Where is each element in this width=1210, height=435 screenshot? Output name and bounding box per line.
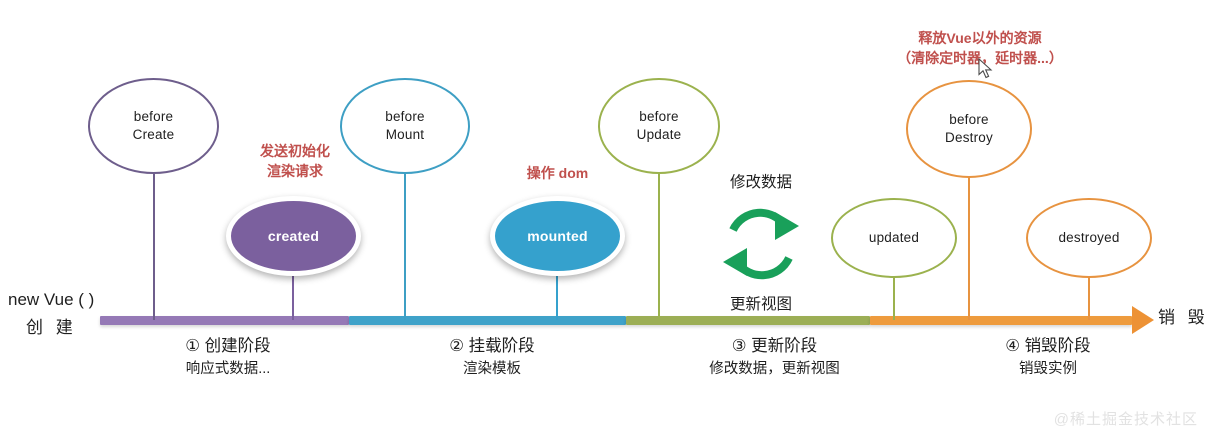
cycle-bottom-label: 更新视图 [705,292,817,314]
phase-2: ② 挂载阶段渲染模板 [412,334,572,381]
hook-label-beforeCreate: before Create [133,108,175,144]
hook-bubble-updated[interactable]: updated [831,198,957,278]
stem-beforeCreate [153,174,155,320]
stem-mounted [556,276,558,320]
hook-bubble-beforeCreate[interactable]: before Create [88,78,219,174]
segment-mount [349,316,626,325]
new-vue-line2: 创 建 [8,314,143,342]
mouse-cursor-icon [978,58,993,84]
phase-3-title: ③ 更新阶段 [682,334,867,359]
destroy-end-label: 销 毁 [1158,303,1209,328]
phase-2-title: ② 挂载阶段 [412,334,572,359]
phase-3-subtitle: 修改数据，更新视图 [682,359,867,381]
new-vue-line1: new Vue ( ) [8,286,143,314]
stem-beforeMount [404,174,406,320]
segment-update [626,316,870,325]
hook-label-mounted: mounted [527,227,588,245]
hook-bubble-beforeMount[interactable]: before Mount [340,78,470,174]
stem-updated [893,278,895,320]
phase-4-subtitle: 销毁实例 [968,359,1128,381]
hook-bubble-beforeDestroy[interactable]: before Destroy [906,80,1032,178]
phase-1-title: ① 创建阶段 [148,334,308,359]
hook-label-beforeMount: before Mount [385,108,424,144]
hook-label-beforeDestroy: before Destroy [945,111,993,147]
vue-lifecycle-diagram: before Createcreatedbefore Mountmountedb… [0,0,1210,435]
phase-4-title: ④ 销毁阶段 [968,334,1128,359]
stem-beforeDestroy [968,178,970,320]
phase-1: ① 创建阶段响应式数据... [148,334,308,381]
stem-created [292,276,294,320]
timeline-arrowhead [1132,306,1154,334]
hook-label-created: created [268,227,319,245]
hook-bubble-destroyed[interactable]: destroyed [1026,198,1152,278]
new-vue-label: new Vue ( ) 创 建 [8,286,143,342]
hook-bubble-mounted[interactable]: mounted [490,196,625,276]
cycle-top-label: 修改数据 [705,170,817,192]
mounted-note: 操作 dom [505,163,610,183]
phase-3: ③ 更新阶段修改数据，更新视图 [682,334,867,381]
stem-beforeUpdate [658,174,660,320]
hook-bubble-created[interactable]: created [226,196,361,276]
hook-label-updated: updated [869,229,919,247]
hook-label-beforeUpdate: before Update [637,108,682,144]
created-note: 发送初始化 渲染请求 [240,141,350,182]
hook-bubble-beforeUpdate[interactable]: before Update [598,78,720,174]
segment-destroy [870,316,1132,325]
phase-2-subtitle: 渲染模板 [412,359,572,381]
stem-destroyed [1088,278,1090,320]
refresh-cycle-icon [713,196,809,292]
watermark: @稀土掘金技术社区 [1054,408,1198,429]
hook-label-destroyed: destroyed [1058,229,1119,247]
phase-4: ④ 销毁阶段销毁实例 [968,334,1128,381]
phase-1-subtitle: 响应式数据... [148,359,308,381]
